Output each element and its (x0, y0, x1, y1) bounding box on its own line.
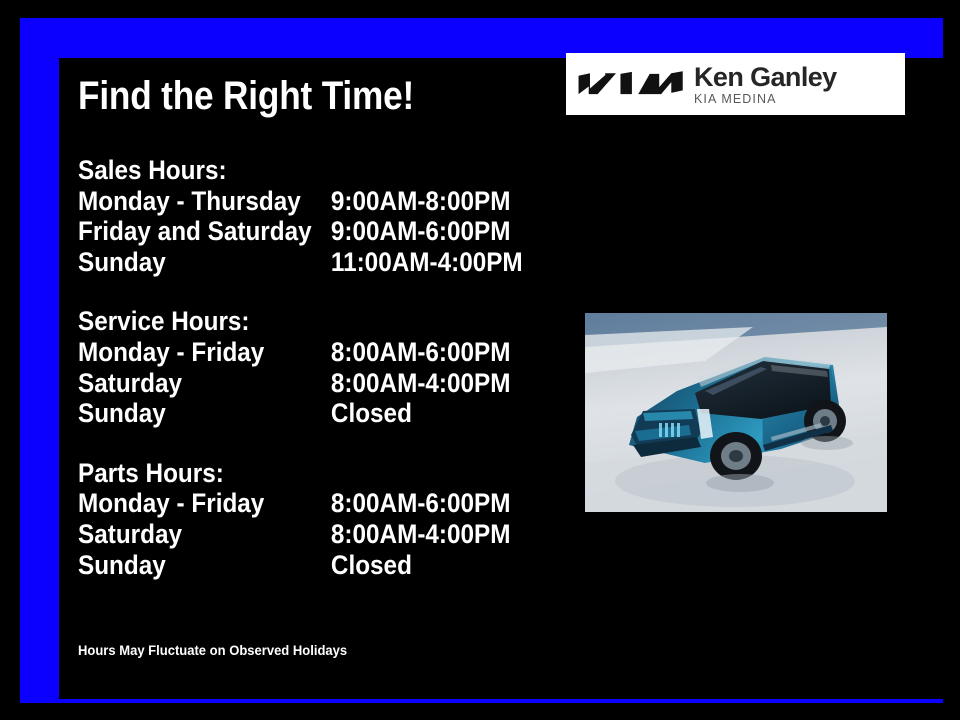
hours-row: Monday - Friday 8:00AM-6:00PM (78, 488, 492, 519)
hours-time-value: 9:00AM-6:00PM (331, 216, 511, 247)
hours-time-value: 11:00AM-4:00PM (331, 247, 523, 278)
dealer-location: KIA MEDINA (694, 92, 837, 107)
hours-section-service: Service Hours: Monday - Friday 8:00AM-6:… (78, 306, 538, 428)
hours-time-value: 9:00AM-8:00PM (331, 186, 511, 217)
page-title: Find the Right Time! (78, 74, 414, 118)
hours-row: Friday and Saturday 9:00AM-6:00PM (78, 216, 492, 247)
hours-row: Sunday Closed (78, 550, 492, 581)
hours-time-value: 8:00AM-4:00PM (331, 519, 511, 550)
hours-time-value: 8:00AM-6:00PM (331, 337, 511, 368)
hours-day-label: Friday and Saturday (78, 216, 312, 247)
hours-day-label: Sunday (78, 247, 166, 278)
kia-ev9-suv-photo (585, 313, 887, 512)
holiday-disclaimer: Hours May Fluctuate on Observed Holidays (78, 641, 347, 659)
hours-day-label: Monday - Friday (78, 337, 264, 368)
hours-time-value: 8:00AM-6:00PM (331, 488, 511, 519)
hours-day-label: Saturday (78, 368, 182, 399)
hours-time-value: 8:00AM-4:00PM (331, 368, 511, 399)
hours-day-label: Sunday (78, 398, 166, 429)
hours-section-parts: Parts Hours: Monday - Friday 8:00AM-6:00… (78, 458, 538, 580)
hours-row: Saturday 8:00AM-4:00PM (78, 519, 492, 550)
hours-day-label: Monday - Friday (78, 488, 264, 519)
hours-row: Saturday 8:00AM-4:00PM (78, 368, 492, 399)
hours-time-value: Closed (331, 398, 412, 429)
hours-row: Monday - Friday 8:00AM-6:00PM (78, 337, 492, 368)
hours-section-sales: Sales Hours: Monday - Thursday 9:00AM-8:… (78, 155, 538, 277)
slide-canvas: Find the Right Time! Sales Hours: Monday… (0, 0, 960, 720)
hours-day-label: Sunday (78, 550, 166, 581)
hours-row: Monday - Thursday 9:00AM-8:00PM (78, 186, 492, 217)
dealer-name-group: Ken Ganley KIA MEDINA (694, 61, 837, 107)
dealer-logo-card: Ken Ganley KIA MEDINA (566, 53, 905, 115)
section-heading: Service Hours: (78, 306, 492, 337)
hours-day-label: Monday - Thursday (78, 186, 301, 217)
section-heading: Parts Hours: (78, 458, 492, 489)
hours-row: Sunday 11:00AM-4:00PM (78, 247, 492, 278)
hours-row: Sunday Closed (78, 398, 492, 429)
kia-logo-icon (566, 53, 694, 115)
hours-time-value: Closed (331, 550, 412, 581)
section-heading: Sales Hours: (78, 155, 492, 186)
hours-day-label: Saturday (78, 519, 182, 550)
hours-list: Sales Hours: Monday - Thursday 9:00AM-8:… (78, 155, 538, 580)
dealer-name: Ken Ganley (694, 63, 837, 91)
